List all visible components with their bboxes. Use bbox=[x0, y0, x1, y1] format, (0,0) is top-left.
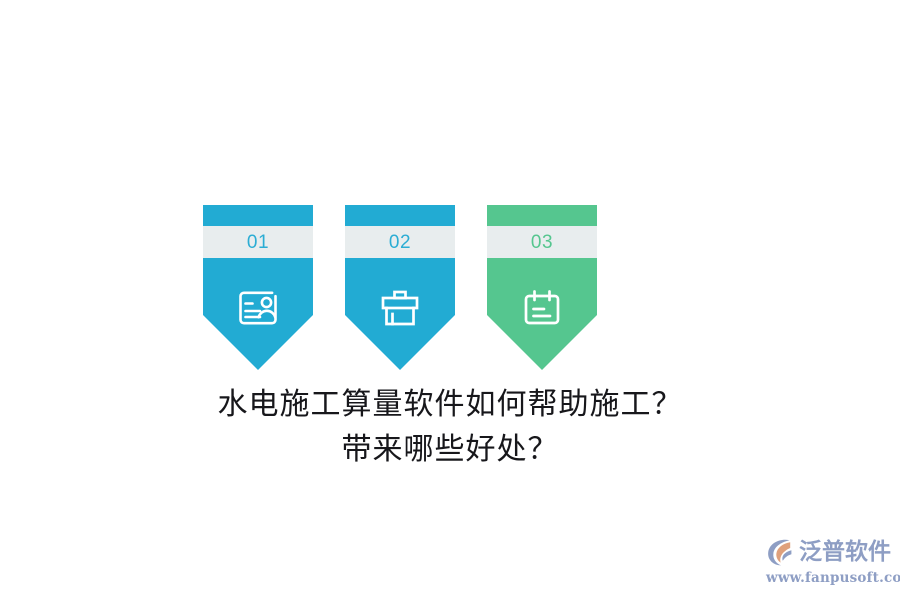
banner-shape-01 bbox=[203, 205, 313, 370]
banner-shape-02 bbox=[345, 205, 455, 370]
logo-website-url: www.fanpusoft.com bbox=[765, 570, 895, 586]
page-title: 水电施工算量软件如何帮助施工？ 带来哪些好处？ bbox=[0, 382, 900, 472]
banner-shape-03 bbox=[487, 205, 597, 370]
banner-item-01[interactable]: 01 bbox=[203, 205, 313, 370]
banner-item-02[interactable]: 02 bbox=[345, 205, 455, 370]
logo-row: 泛普软件 bbox=[765, 536, 895, 568]
brand-logo[interactable]: 泛普软件 www.fanpusoft.com bbox=[765, 536, 895, 588]
fanpu-swoosh-logo-icon bbox=[765, 537, 795, 567]
poster-canvas: 01 02 bbox=[0, 0, 900, 600]
banner-item-03[interactable]: 03 bbox=[487, 205, 597, 370]
banner-group: 01 02 bbox=[203, 205, 603, 375]
logo-company-name: 泛普软件 bbox=[799, 541, 891, 564]
